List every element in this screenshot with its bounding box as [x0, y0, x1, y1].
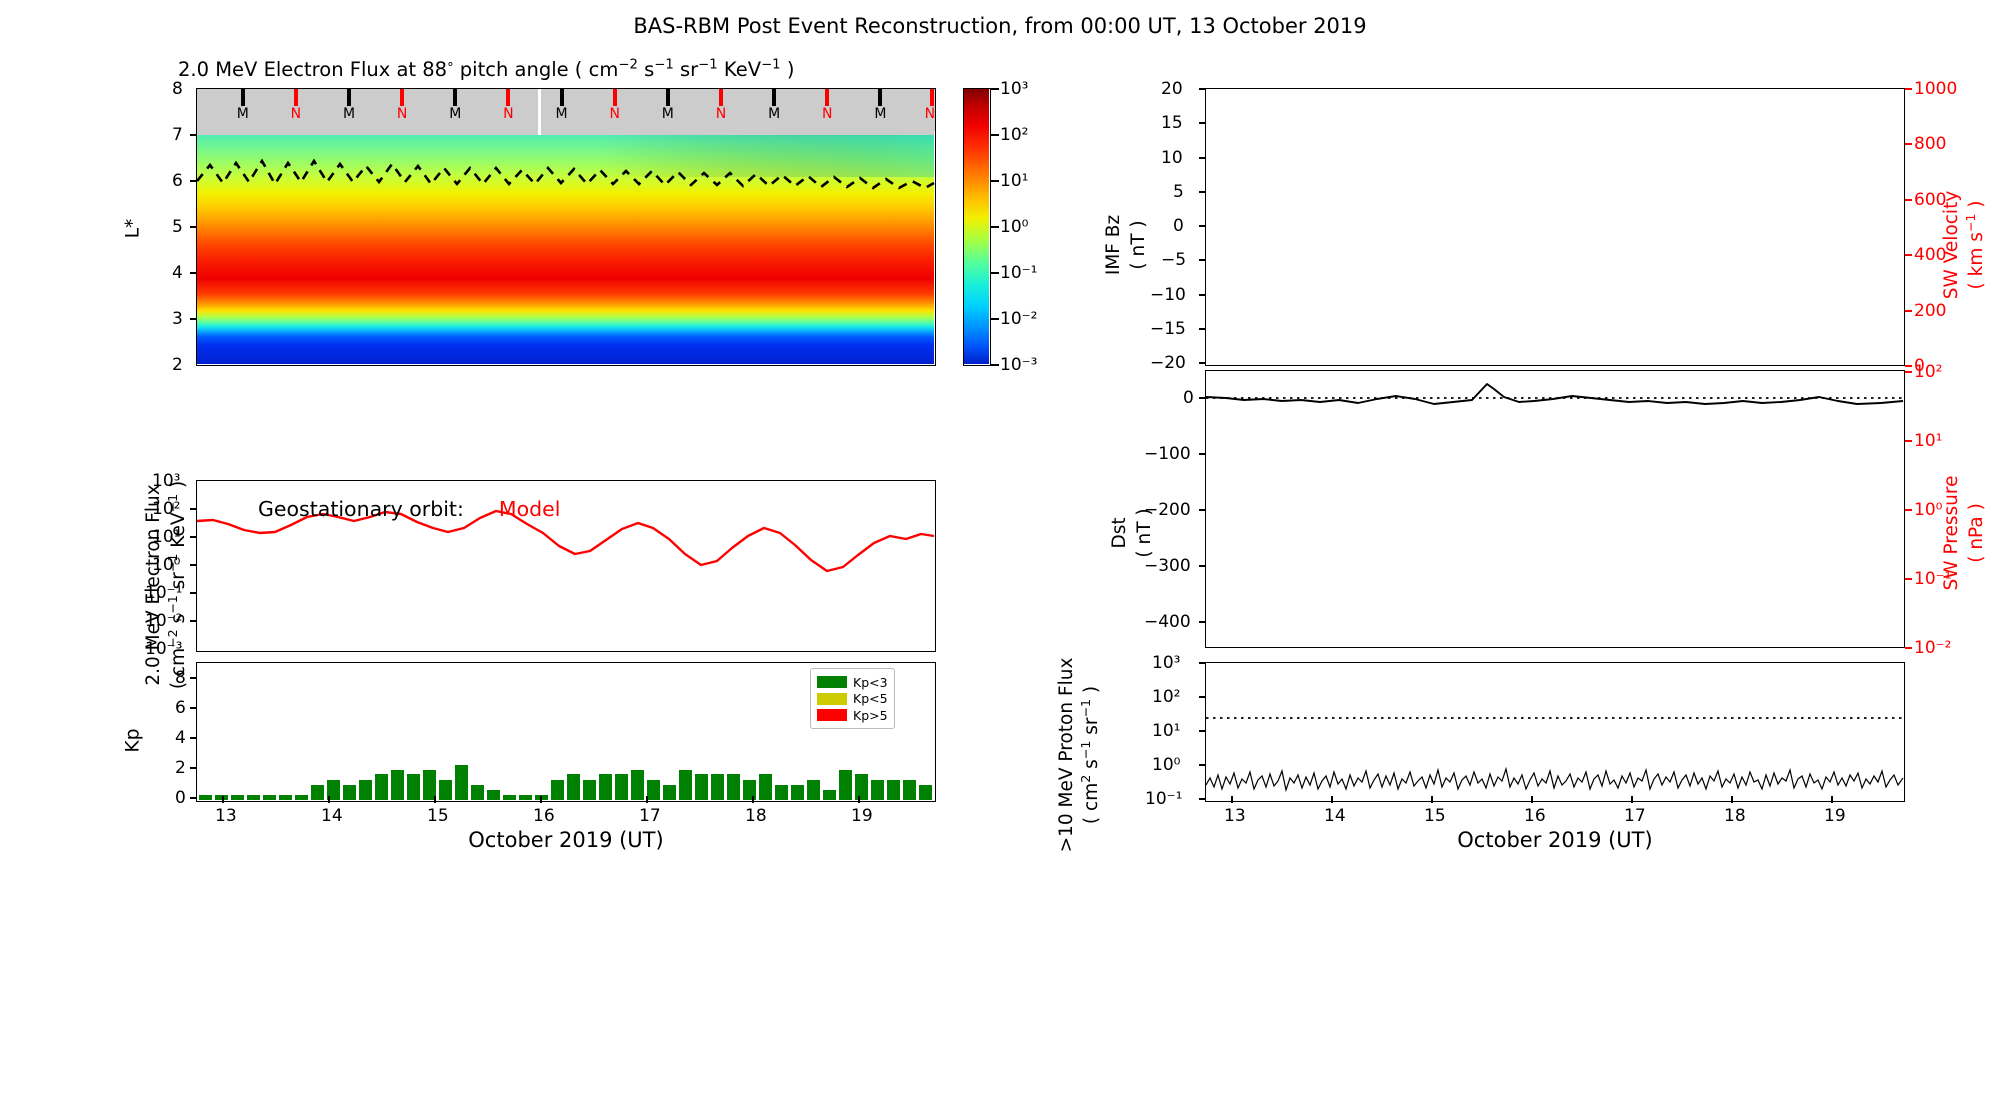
proton-flux-panel: [1205, 662, 1905, 802]
ytick: [190, 318, 197, 320]
mn-label-m: M: [343, 106, 355, 122]
ytick-label: 15: [1161, 113, 1183, 133]
legend-item: Kp>5: [817, 708, 888, 723]
xtick: [1431, 796, 1433, 803]
spectrogram-title: 2.0 MeV Electron Flux at 88° pitch angle…: [178, 58, 794, 81]
ytick-label-right: 10¹: [1914, 431, 1942, 451]
ytick: [1199, 662, 1206, 664]
mn-label-n: N: [925, 106, 935, 122]
ytick: [190, 272, 197, 274]
xtick-label: 14: [321, 806, 343, 826]
ytick-right: [1905, 310, 1912, 312]
figure-title: BAS-RBM Post Event Reconstruction, from …: [0, 14, 2000, 38]
legend-label-kp-gt5: Kp>5: [853, 708, 888, 723]
cbar-tick-label: 10⁰: [1000, 217, 1028, 237]
mn-label-n: N: [397, 106, 407, 122]
dst-ylabel: Dst ( nT ): [1108, 413, 1158, 653]
ytick-label: 10: [1161, 148, 1183, 168]
ytick-right: [1905, 88, 1912, 90]
mn-tick: [400, 89, 404, 106]
mn-label-m: M: [556, 106, 568, 122]
mn-tick: [878, 89, 882, 106]
ytick-label: 10²: [1152, 687, 1180, 707]
mn-label-m: M: [449, 106, 461, 122]
ytick-label: −5: [1161, 250, 1186, 270]
ytick: [1199, 764, 1206, 766]
ytick-label: 6: [175, 698, 186, 718]
ytick-label: 2: [172, 355, 183, 375]
mn-marker-band: M N M N M N M N M N M N M N: [197, 89, 935, 131]
ytick-right: [1905, 371, 1912, 373]
ytick-label: −10: [1150, 285, 1186, 305]
mn-label-n: N: [503, 106, 513, 122]
proton-flux-ylabel-line1: >10 MeV Proton Flux: [1055, 565, 1080, 945]
ytick: [190, 707, 197, 709]
ytick: [190, 180, 197, 182]
cbar-tick-label: 10¹: [1000, 171, 1028, 191]
ytick: [190, 226, 197, 228]
event-marker-line: [538, 89, 541, 135]
ytick-label: 5: [1173, 182, 1184, 202]
ytick-label: 2: [175, 758, 186, 778]
ytick: [1199, 259, 1206, 261]
xtick: [1831, 796, 1833, 803]
cbar-tick-label: 10²: [1000, 125, 1028, 145]
sw-velocity-ylabel: SW Velocity ( km s−1 ): [1940, 125, 1990, 365]
ytick: [1199, 798, 1206, 800]
mn-tick: [294, 89, 298, 106]
ytick-label: 4: [175, 728, 186, 748]
dst-line: [1206, 371, 1903, 646]
xtick: [858, 796, 860, 803]
ytick-right: [1905, 199, 1912, 201]
ytick: [1199, 565, 1206, 567]
ytick-label: 3: [172, 309, 183, 329]
cbar-tick: [991, 318, 999, 320]
figure-root: BAS-RBM Post Event Reconstruction, from …: [0, 0, 2000, 1100]
dst-ylabel-line1: Dst: [1108, 413, 1133, 653]
xtick: [328, 796, 330, 803]
cbar-tick: [991, 272, 999, 274]
xtick-label: 15: [1424, 806, 1446, 826]
mn-label-m: M: [662, 106, 674, 122]
ytick: [190, 737, 197, 739]
xtick-label: 13: [215, 806, 237, 826]
geo-flux-ylabel-line2: ( cm−2 s−1 sr−1 KeV−1 ): [167, 435, 192, 735]
cbar-tick-label: 10³: [1000, 79, 1028, 99]
ytick-label: 10¹: [1152, 721, 1180, 741]
ytick: [1199, 294, 1206, 296]
ytick-right: [1905, 647, 1912, 649]
geo-flux-ylabel-line1: 2.0 MeV Electron Flux: [142, 435, 167, 735]
sw-velocity-ylabel-line1: SW Velocity: [1940, 125, 1965, 365]
ytick-label: 0: [175, 788, 186, 808]
ytick: [1199, 88, 1206, 90]
mn-tick: [719, 89, 723, 106]
dst-panel: [1205, 370, 1905, 648]
ytick: [190, 797, 197, 799]
ytick-label: 20: [1161, 79, 1183, 99]
ytick-label: −15: [1150, 319, 1186, 339]
ytick-right: [1905, 440, 1912, 442]
cbar-tick-label: 10⁻¹: [1000, 263, 1037, 283]
xtick: [1331, 796, 1333, 803]
ytick: [1199, 362, 1206, 364]
ytick: [190, 677, 197, 679]
xtick-label: 16: [1524, 806, 1546, 826]
ytick-label: 8: [172, 79, 183, 99]
mn-label-n: N: [716, 106, 726, 122]
legend-swatch-kp-lt3: [817, 676, 847, 688]
ytick-label: 8: [175, 668, 186, 688]
ytick: [1199, 157, 1206, 159]
proton-flux-ylabel: >10 MeV Proton Flux ( cm2 s−1 sr−1 ): [1055, 565, 1105, 945]
mn-tick: [613, 89, 617, 106]
mn-label-n: N: [609, 106, 619, 122]
ytick-label-right: 1000: [1914, 79, 1957, 99]
mn-label-m: M: [768, 106, 780, 122]
ytick: [1199, 509, 1206, 511]
geo-flux-annotation: Geostationary orbit: Model: [258, 497, 560, 521]
xtick-label: 15: [427, 806, 449, 826]
kp-legend: Kp<3 Kp<5 Kp>5: [810, 668, 895, 729]
cbar-tick: [991, 364, 999, 366]
dst-ylabel-line2: ( nT ): [1133, 413, 1158, 653]
cbar-tick-label: 10⁻²: [1000, 309, 1037, 329]
xtick: [1231, 796, 1233, 803]
kp-xlabel: October 2019 (UT): [336, 828, 796, 852]
ytick: [1199, 328, 1206, 330]
ytick-label: 10⁻¹: [1145, 789, 1182, 809]
imf-bz-ylabel: IMF Bz ( nT ): [1102, 125, 1152, 365]
xtick-label: 18: [745, 806, 767, 826]
xtick: [1631, 796, 1633, 803]
xtick: [540, 796, 542, 803]
ytick: [1199, 453, 1206, 455]
geo-flux-ylabel: 2.0 MeV Electron Flux ( cm−2 s−1 sr−1 Ke…: [142, 435, 192, 735]
xtick-label: 14: [1324, 806, 1346, 826]
xtick-label: 16: [533, 806, 555, 826]
imf-bz-ylabel-line2: ( nT ): [1127, 125, 1152, 365]
ytick-label: 7: [172, 125, 183, 145]
colorbar: [963, 88, 991, 366]
legend-label-kp-lt5: Kp<5: [853, 691, 888, 706]
cbar-tick-label: 10⁻³: [1000, 355, 1037, 375]
mn-tick: [825, 89, 829, 106]
xtick: [1531, 796, 1533, 803]
legend-swatch-kp-lt5: [817, 693, 847, 705]
ytick-label: 0: [1183, 388, 1194, 408]
mn-tick: [666, 89, 670, 106]
ytick-label: 10⁰: [1152, 755, 1180, 775]
mn-tick: [453, 89, 457, 106]
ytick: [1199, 621, 1206, 623]
sw-pressure-ylabel: SW Pressure ( nPa ): [1940, 413, 1990, 653]
ytick-label: 6: [172, 171, 183, 191]
ytick-label: 10³: [1152, 653, 1180, 673]
mn-tick: [930, 89, 934, 106]
ytick-right: [1905, 509, 1912, 511]
geo-flux-annotation-series: Model: [499, 497, 561, 521]
mn-tick: [347, 89, 351, 106]
cbar-tick: [991, 134, 999, 136]
xtick-label: 13: [1224, 806, 1246, 826]
legend-item: Kp<5: [817, 691, 888, 706]
ytick-right: [1905, 365, 1912, 367]
xtick: [1731, 796, 1733, 803]
ytick: [190, 134, 197, 136]
ytick: [1199, 191, 1206, 193]
ytick-right: [1905, 254, 1912, 256]
ytick-label: −20: [1150, 353, 1186, 373]
mn-label-n: N: [822, 106, 832, 122]
geo-flux-annotation-label: Geostationary orbit:: [258, 497, 464, 521]
sw-velocity-ylabel-line2: ( km s−1 ): [1965, 125, 1990, 365]
xtick: [434, 796, 436, 803]
mn-label-n: N: [291, 106, 301, 122]
ytick-label-right: 10²: [1914, 362, 1942, 382]
mn-tick: [772, 89, 776, 106]
xtick: [222, 796, 224, 803]
ytick-right: [1905, 143, 1912, 145]
ytick: [1199, 730, 1206, 732]
proton-flux-xlabel: October 2019 (UT): [1325, 828, 1785, 852]
cbar-tick: [991, 226, 999, 228]
proton-flux-ylabel-line2: ( cm2 s−1 sr−1 ): [1080, 565, 1105, 945]
legend-label-kp-lt3: Kp<3: [853, 675, 888, 690]
mn-label-m: M: [237, 106, 249, 122]
ytick: [1199, 696, 1206, 698]
ytick: [1199, 397, 1206, 399]
legend-item: Kp<3: [817, 675, 888, 690]
xtick-label: 19: [851, 806, 873, 826]
ytick-label: 0: [1173, 216, 1184, 236]
imf-bz-ylabel-line1: IMF Bz: [1102, 125, 1127, 365]
spectrogram-ylabel: L*: [123, 209, 144, 249]
ytick-label-right: 10⁰: [1914, 500, 1942, 520]
mn-tick: [241, 89, 245, 106]
mn-tick: [506, 89, 510, 106]
ytick: [190, 767, 197, 769]
proton-flux-line: [1206, 663, 1903, 800]
ytick-label: 4: [172, 263, 183, 283]
colorbar-gradient: [964, 89, 989, 364]
xtick-label: 17: [639, 806, 661, 826]
imf-bz-panel: [1205, 88, 1905, 366]
kp-ylabel: Kp: [123, 721, 144, 761]
xtick: [646, 796, 648, 803]
mn-tick: [560, 89, 564, 106]
xtick: [752, 796, 754, 803]
mn-label-m: M: [874, 106, 886, 122]
legend-swatch-kp-gt5: [817, 709, 847, 721]
ytick-label: 5: [172, 217, 183, 237]
ytick: [1199, 122, 1206, 124]
sw-pressure-ylabel-line1: SW Pressure: [1940, 413, 1965, 653]
xtick-label: 18: [1724, 806, 1746, 826]
ytick: [1199, 225, 1206, 227]
xtick-label: 17: [1624, 806, 1646, 826]
sw-pressure-ylabel-line2: ( nPa ): [1965, 413, 1990, 653]
xtick-label: 19: [1824, 806, 1846, 826]
ytick-right: [1905, 578, 1912, 580]
cbar-tick: [991, 88, 999, 90]
cbar-tick: [991, 180, 999, 182]
